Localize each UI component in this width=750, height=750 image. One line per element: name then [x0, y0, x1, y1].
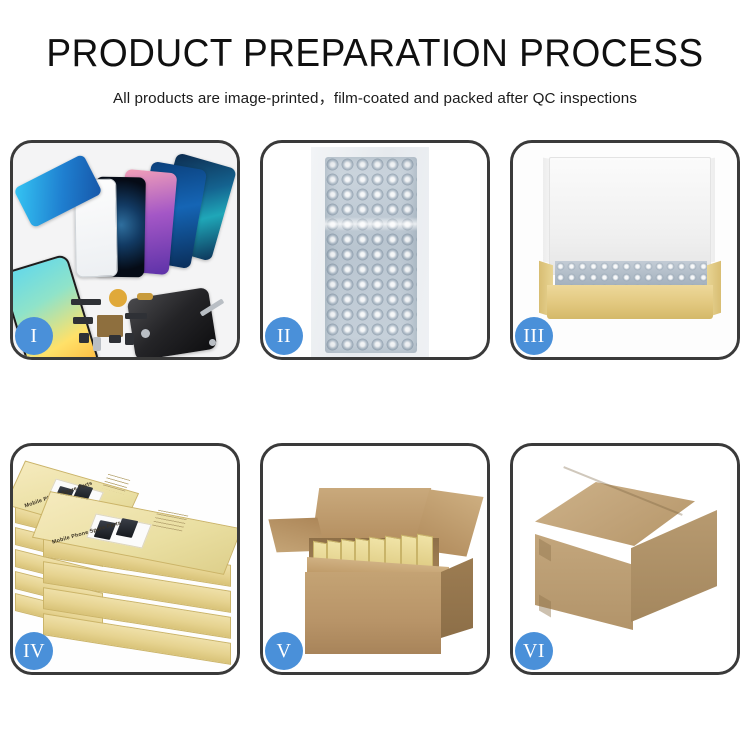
part-strip — [71, 299, 101, 305]
step-panel-stacked-retail-boxes[interactable]: Mobile Phone Spare Parts Mobile Phone Sp… — [10, 443, 240, 675]
page-subtitle: All products are image-printed，film-coat… — [0, 75, 750, 108]
part-chip-b — [109, 335, 121, 343]
step-panel-sealed-carton[interactable]: VI — [510, 443, 740, 675]
box-tray-front — [547, 285, 713, 319]
part-flex-cable-2 — [125, 313, 147, 319]
part-coil — [109, 289, 127, 307]
step-panel-inner-box-packing[interactable]: III — [510, 140, 740, 360]
step-panel-phone-screens-and-spare-parts[interactable]: I — [10, 140, 240, 360]
step-badge-4: IV — [15, 632, 53, 670]
page-header: PRODUCT PREPARATION PROCESS All products… — [0, 0, 750, 108]
carton-side — [441, 558, 473, 638]
part-board — [97, 315, 123, 337]
step-badge-1: I — [15, 317, 53, 355]
step-panel-carton-filling[interactable]: V — [260, 443, 490, 675]
process-steps-grid: I II III — [10, 140, 740, 675]
part-screw-washer — [141, 329, 150, 338]
page-title: PRODUCT PREPARATION PROCESS — [19, 0, 732, 75]
step-badge-2: II — [265, 317, 303, 355]
part-flex-cable — [73, 317, 93, 324]
bubble-wrap-highlight — [325, 217, 417, 231]
part-screw — [209, 339, 216, 346]
step-badge-3: III — [515, 317, 553, 355]
step-badge-6: VI — [515, 632, 553, 670]
step-badge-5: V — [265, 632, 303, 670]
part-chip-c — [125, 333, 134, 345]
box-lid — [549, 157, 711, 275]
part-battery — [93, 337, 101, 351]
part-chip-a — [79, 333, 89, 343]
part-bracket — [137, 293, 153, 300]
carton-body — [305, 572, 441, 654]
bubble-wrap-bubbles — [325, 157, 417, 353]
step-panel-bubble-wrap-packing[interactable]: II — [260, 140, 490, 360]
